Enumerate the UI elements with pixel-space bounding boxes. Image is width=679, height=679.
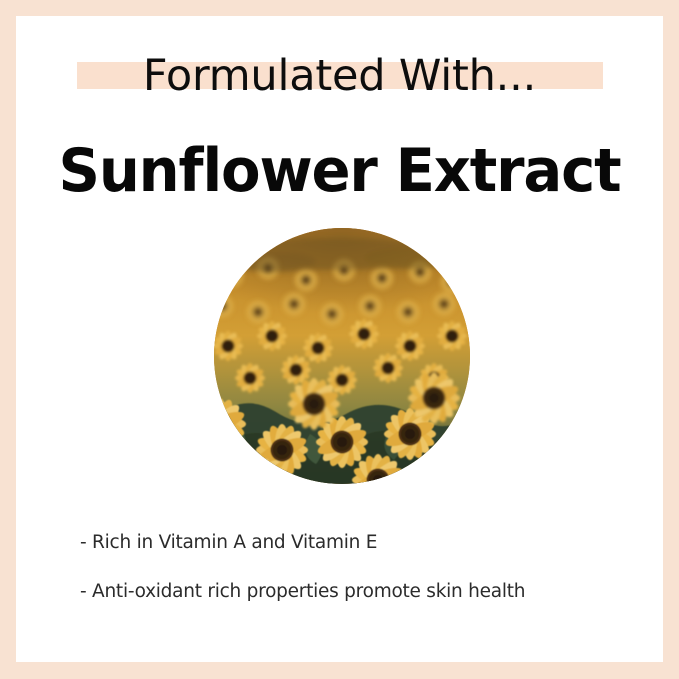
product-infographic-card: Formulated With... Sunflower Extract xyxy=(0,0,679,679)
list-item: - Anti-oxidant rich properties promote s… xyxy=(80,581,640,603)
card-inner-surface: Formulated With... Sunflower Extract xyxy=(16,16,663,662)
sunflower-field-photo xyxy=(214,228,470,484)
sunflower-field-illustration xyxy=(214,228,470,484)
benefits-list: - Rich in Vitamin A and Vitamin E - Anti… xyxy=(80,532,640,603)
eyebrow-text: Formulated With... xyxy=(143,54,536,99)
page-title: Sunflower Extract xyxy=(29,138,650,204)
eyebrow-container: Formulated With... xyxy=(16,54,663,99)
list-item: - Rich in Vitamin A and Vitamin E xyxy=(80,532,640,554)
